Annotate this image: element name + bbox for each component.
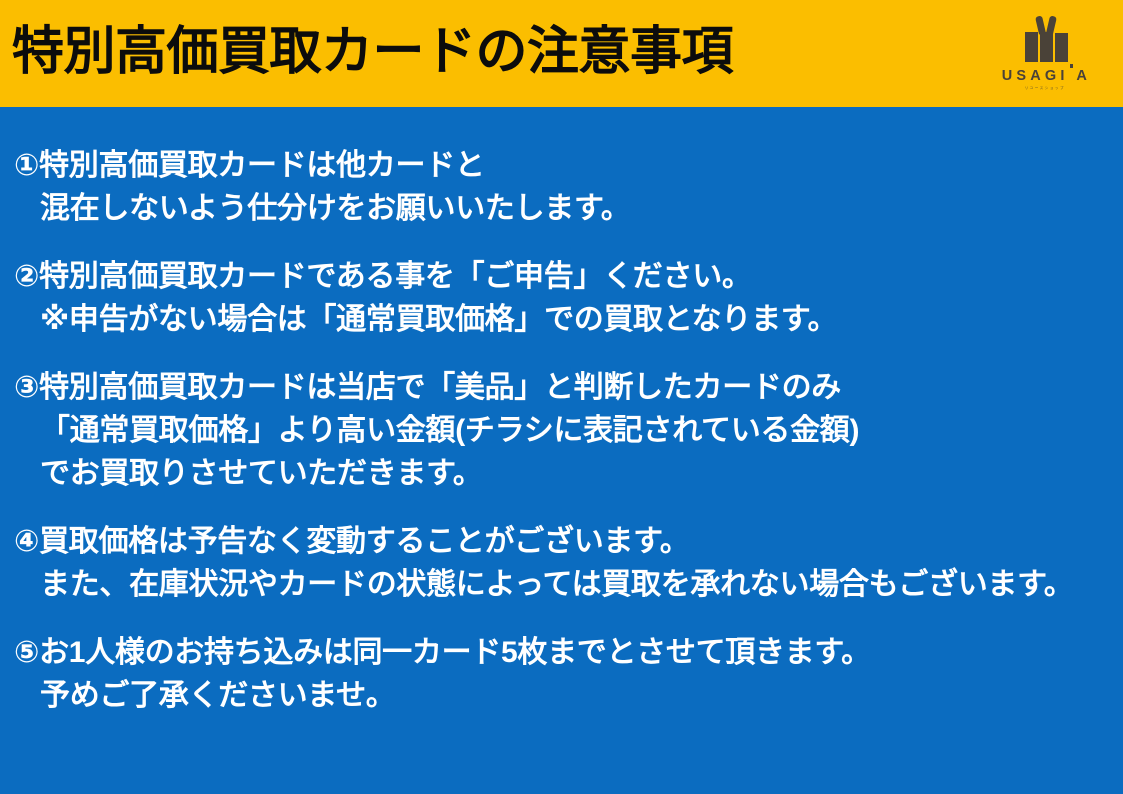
header-band: 特別高価買取カードの注意事項 USAGI A リユースショップ [0,0,1123,107]
notice-line: ⑤お1人様のお持ち込みは同一カード5枚までとさせて頂きます。 [14,632,1123,675]
logo-wordmark: USAGI A [999,69,1091,84]
notice-line: ※申告がない場合は「通常買取価格」での買取となります。 [14,299,1123,342]
notice-line: 混在しないよう仕分けをお願いいたします。 [14,188,1123,231]
notice-item-5: ⑤お1人様のお持ち込みは同一カード5枚までとさせて頂きます。 予めご了承ください… [14,632,1123,717]
notice-line: 「通常買取価格」より高い金額(チラシに表記されている金額) [14,410,1123,453]
books-and-ears-icon [1017,14,1073,64]
notice-line: ③特別高価買取カードは当店で「美品」と判断したカードのみ [14,367,1123,410]
notice-item-1: ①特別高価買取カードは他カードと 混在しないよう仕分けをお願いいたします。 [14,145,1123,230]
notice-item-3: ③特別高価買取カードは当店で「美品」と判断したカードのみ 「通常買取価格」より高… [14,367,1123,495]
book-bar-icon [1025,32,1038,62]
usagiya-logo: USAGI A リユースショップ [999,14,1091,91]
logo-accent-mark-icon [1070,64,1073,68]
notice-poster: 特別高価買取カードの注意事項 USAGI A リユースショップ ①特別高価買取カ… [0,0,1123,794]
notice-line: ④買取価格は予告なく変動することがございます。 [14,521,1123,564]
notice-line: でお買取りさせていただきます。 [14,453,1123,496]
book-bar-icon [1055,33,1068,62]
notice-line: ①特別高価買取カードは他カードと [14,145,1123,188]
notice-line: 予めご了承くださいませ。 [14,675,1123,718]
page-title: 特別高価買取カードの注意事項 [12,26,733,78]
logo-wordmark-text: USAGI A [1002,68,1091,84]
book-bar-icon [1040,32,1053,62]
notice-line: また、在庫状況やカードの状態によっては買取を承れない場合もございます。 [14,564,1123,607]
logo-subtext: リユースショップ [1025,87,1066,91]
notice-item-2: ②特別高価買取カードである事を「ご申告」ください。 ※申告がない場合は「通常買取… [14,256,1123,341]
notice-line: ②特別高価買取カードである事を「ご申告」ください。 [14,256,1123,299]
notice-list: ①特別高価買取カードは他カードと 混在しないよう仕分けをお願いいたします。 ②特… [0,107,1123,794]
notice-item-4: ④買取価格は予告なく変動することがございます。 また、在庫状況やカードの状態によ… [14,521,1123,606]
